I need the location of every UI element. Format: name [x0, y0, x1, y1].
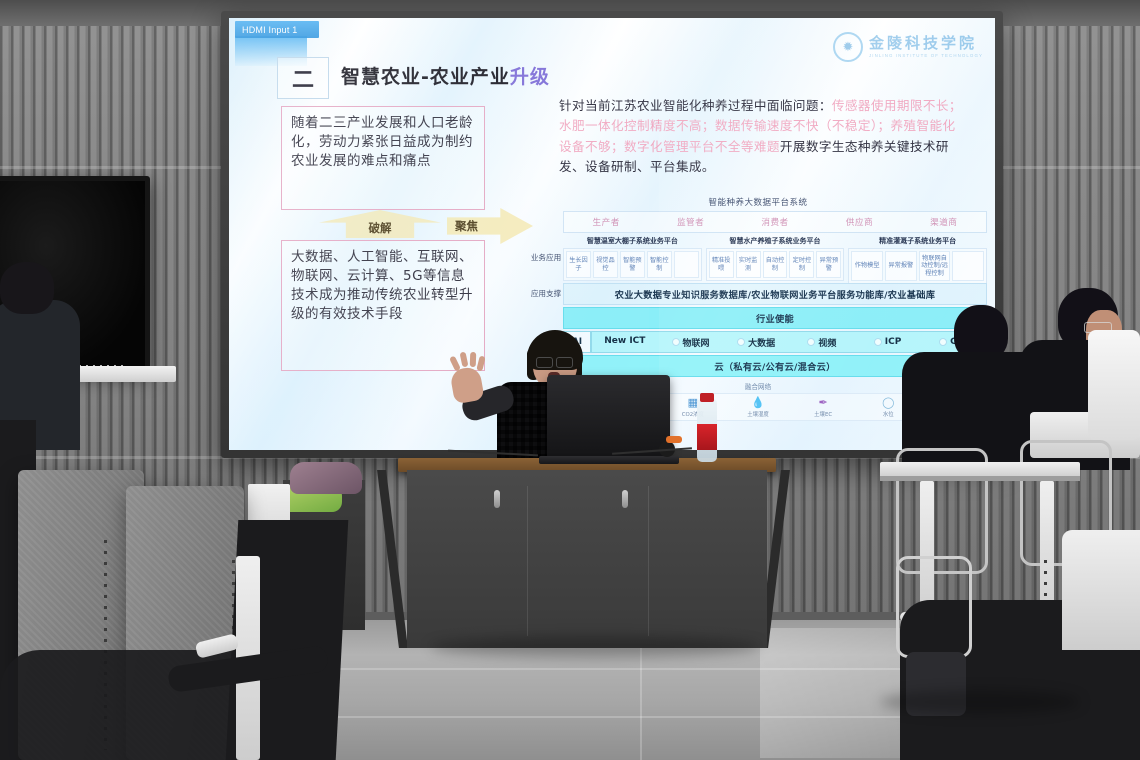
arrow-right-focus: 聚焦: [447, 208, 533, 244]
sub-platform-cells: 精准投喂 实时监测 自动控制 定时控制 异常预警: [706, 248, 845, 281]
presenter-glasses-left: [536, 357, 553, 368]
arrow-right-label: 聚焦: [447, 218, 478, 234]
node-dot-icon: [737, 338, 745, 346]
tech-item-list: New ICT 物联网 大数据 视频 ICP GIS: [591, 331, 987, 353]
hdmi-input-badge: HDMI Input 1: [235, 21, 319, 38]
capability-cell: 异常预警: [816, 251, 841, 278]
tech-item-wrap: 大数据: [723, 332, 789, 352]
capability-cell: 精准投喂: [709, 251, 734, 278]
diagram-tech-row: AI New ICT 物联网 大数据 视频 ICP GIS: [529, 331, 987, 353]
capability-cell: 实时监测: [736, 251, 761, 278]
capability-cell: 智能控制: [647, 251, 672, 278]
tech-item: 视频: [818, 336, 836, 349]
university-crest-icon: ✹: [833, 32, 863, 62]
diagram-business-row: 业务应用 智慧温室大棚子系统业务平台 生长因子 视觉品控 智能预警 智能控制: [529, 235, 987, 281]
capability-cell: 定时控制: [789, 251, 814, 278]
sub-platform-cells: 作物模型 异常报警 物联网自动控制/远程控制: [848, 248, 987, 284]
sub-platform-cells: 生长因子 视觉品控 智能预警 智能控制: [563, 248, 702, 281]
podium-front-panel: [407, 470, 767, 648]
foreground-white-chair-right[interactable]: [1062, 530, 1140, 650]
roles-list: 生产者 监管者 消费者 供应商 渠道商: [563, 211, 987, 233]
slide-section-number: 二: [277, 57, 329, 99]
tech-item: 物联网: [683, 336, 710, 349]
water-bottle-cap: [700, 393, 714, 402]
arrow-up-label: 破解: [369, 220, 392, 238]
diagram-roles-row: 生产者 监管者 消费者 供应商 渠道商: [529, 211, 987, 233]
capability-cell: 异常报警: [885, 251, 917, 281]
university-logo-text: 金陵科技学院 JINLING INSTITUTE OF TECHNOLOGY: [869, 36, 983, 58]
sub-platform: 智慧水产养殖子系统业务平台 精准投喂 实时监测 自动控制 定时控制 异常预警: [706, 235, 845, 281]
tech-item-wrap: 物联网: [658, 332, 724, 352]
podium-panel-seam-1: [527, 486, 528, 636]
tech-item-wrap: 视频: [789, 332, 855, 352]
slide-paragraph: 针对当前江苏农业智能化种养过程中面临问题：传感器使用期限不长；水肥一体化控制精度…: [559, 96, 967, 178]
node-dot-icon: [939, 338, 947, 346]
node-dot-icon: [874, 338, 882, 346]
sub-platform: 智慧温室大棚子系统业务平台 生长因子 视觉品控 智能预警 智能控制: [563, 235, 702, 281]
classroom-photo: HDMI Input 1 二 智慧农业-农业产业升级 ✹ 金陵科技学院 JINL…: [0, 0, 1140, 760]
slide-textbox-problem: 随着二三产业发展和人口老龄化，劳动力紧张日益成为制约农业发展的难点和痛点: [281, 106, 485, 210]
tech-item: 大数据: [748, 336, 775, 349]
presenter-glasses-right: [556, 357, 573, 368]
podium-shadow: [430, 636, 760, 658]
role-item: 生产者: [564, 212, 648, 232]
capability-cell: 生长因子: [566, 251, 591, 278]
sensor-label: 土壤EC: [791, 410, 856, 418]
layer-label-support: 应用支撑: [529, 283, 563, 305]
podium-handle-right[interactable]: [622, 490, 628, 508]
slide-title: 智慧农业-农业产业升级: [341, 62, 550, 89]
paragraph-prefix: 针对当前江苏农业智能化种养过程中面临问题：: [559, 98, 832, 113]
diagram-support-row: 应用支撑 农业大数据专业知识服务数据库/农业物联网业务平台服务功能库/农业基础库: [529, 283, 987, 305]
university-name-cn: 金陵科技学院: [869, 36, 983, 51]
presenter-finger: [470, 352, 477, 367]
university-name-en: JINLING INSTITUTE OF TECHNOLOGY: [869, 54, 983, 58]
sensor-item: 💧 土壤湿度: [725, 396, 790, 418]
sub-platform: 精准灌溉子系统业务平台 作物模型 异常报警 物联网自动控制/远程控制: [848, 235, 987, 281]
role-item: 消费者: [733, 212, 817, 232]
chair-shadow-right: [880, 690, 1080, 714]
role-item: 监管者: [648, 212, 732, 232]
node-dot-icon: [807, 338, 815, 346]
role-item: 供应商: [817, 212, 901, 232]
sub-platform-title: 智慧温室大棚子系统业务平台: [563, 235, 702, 248]
microphone-body: [666, 436, 682, 443]
podium-handle-left[interactable]: [494, 490, 500, 508]
tech-item-wrap: ICP: [855, 332, 921, 352]
chair-frame-foreground[interactable]: [896, 556, 972, 658]
water-bottle-label: [697, 424, 717, 450]
podium-panel-seam-2: [648, 486, 649, 636]
laptop-screen: [547, 375, 670, 459]
slide-title-highlight: 升级: [510, 66, 550, 88]
sensor-item: ✒ 土壤EC: [791, 396, 856, 418]
capability-cell: 视觉品控: [593, 251, 618, 278]
node-dot-icon: [672, 338, 680, 346]
arrow-up-breakthrough: 破解: [319, 210, 441, 238]
capability-cell: 物联网自动控制/远程控制: [919, 251, 951, 281]
capability-cell: 智能预警: [620, 251, 645, 278]
capability-cell: 作物模型: [851, 251, 883, 281]
diagram-title: 智能种养大数据平台系统: [529, 196, 987, 208]
enabling-row-spacer: [529, 307, 563, 329]
handbag: [290, 462, 362, 494]
soil-moisture-icon: 💧: [725, 396, 790, 409]
diagram-enabling-row: 行业使能: [529, 307, 987, 329]
roles-row-spacer: [529, 211, 563, 233]
tech-item: ICP: [885, 337, 902, 347]
sub-platform-title: 精准灌溉子系统业务平台: [848, 235, 987, 248]
capability-cell: 自动控制: [763, 251, 788, 278]
capability-cell: [674, 251, 699, 278]
enabling-band: 行业使能: [563, 307, 987, 329]
student-left-head: [0, 262, 54, 314]
sensor-label: 土壤湿度: [725, 410, 790, 418]
slide-title-main: 智慧农业-农业产业: [341, 66, 510, 88]
white-chair-back[interactable]: [1088, 330, 1140, 440]
university-logo: ✹ 金陵科技学院 JINLING INSTITUTE OF TECHNOLOGY: [833, 32, 983, 62]
layer-label-business: 业务应用: [529, 235, 563, 281]
sub-platform-title: 智慧水产养殖子系统业务平台: [706, 235, 845, 248]
laptop-keyboard: [539, 456, 679, 464]
capability-cell: [952, 251, 984, 281]
soil-probe-icon: ✒: [791, 396, 856, 409]
sub-platform-group: 智慧温室大棚子系统业务平台 生长因子 视觉品控 智能预警 智能控制 智慧水产养殖…: [563, 235, 987, 281]
support-band: 农业大数据专业知识服务数据库/农业物联网业务平台服务功能库/农业基础库: [563, 283, 987, 305]
role-item: 渠道商: [902, 212, 986, 232]
slide-textbox-solution: 大数据、人工智能、互联网、物联网、云计算、5G等信息技术成为推动传统农业转型升级…: [281, 240, 485, 371]
tech-item: New ICT: [592, 332, 658, 352]
